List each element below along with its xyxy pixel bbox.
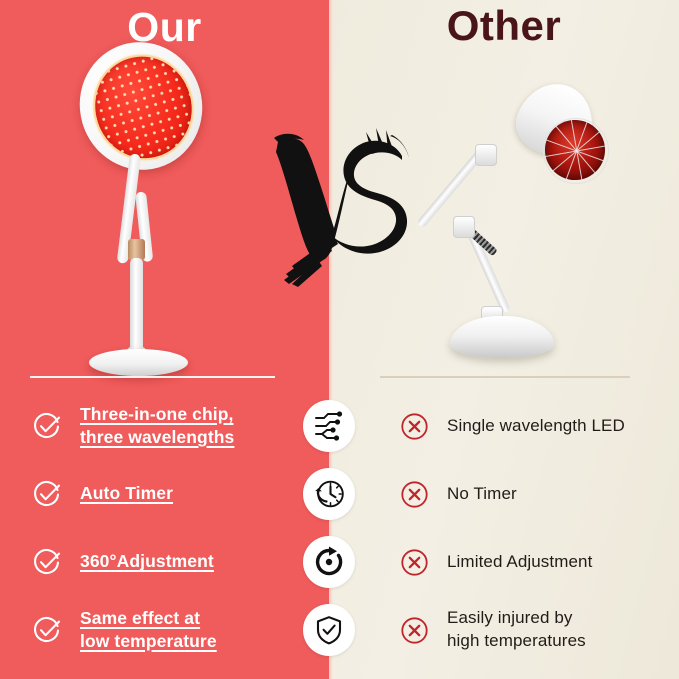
shield-check-icon — [303, 604, 355, 656]
our-feature-cell: Same effect at low temperature — [32, 596, 302, 664]
x-circle-icon — [400, 616, 429, 645]
comparison-row: Same effect at low temperature — [0, 596, 679, 664]
our-feature-line2: low temperature — [80, 631, 217, 651]
other-feature-cell: No Timer — [400, 460, 670, 528]
other-feature-line1: Easily injured by — [447, 608, 572, 627]
our-feature-cell: Auto Timer — [32, 460, 302, 528]
our-feature-label: Same effect at low temperature — [80, 607, 217, 653]
clock-timer-icon — [303, 468, 355, 520]
our-feature-line1: 360°Adjustment — [80, 551, 214, 571]
our-feature-line1: Same effect at — [80, 608, 200, 628]
x-circle-icon — [400, 548, 429, 577]
our-feature-cell: 360°Adjustment — [32, 528, 302, 596]
check-circle-icon — [32, 547, 62, 577]
circuit-chip-icon — [303, 400, 355, 452]
our-feature-line2: three wavelengths — [80, 427, 234, 447]
versus-graphic — [262, 108, 422, 293]
feature-comparison-list: Three-in-one chip, three wavelengths — [0, 392, 679, 664]
other-feature-cell: Single wavelength LED — [400, 392, 670, 460]
other-feature-line1: Single wavelength LED — [447, 416, 625, 435]
other-feature-label: Limited Adjustment — [447, 551, 592, 574]
our-feature-line1: Auto Timer — [80, 483, 173, 503]
other-feature-label: Easily injured by high temperatures — [447, 607, 586, 653]
led-lamp-base — [89, 349, 188, 376]
rotate-360-icon — [303, 536, 355, 588]
infrared-lamp-joint-top — [475, 144, 497, 166]
led-lamp-post — [130, 258, 143, 357]
our-feature-label: Three-in-one chip, three wavelengths — [80, 403, 234, 449]
product-image-other-infrared-lamp — [425, 78, 615, 373]
led-panel-face — [81, 43, 206, 172]
led-lamp-copper-band — [128, 239, 145, 260]
check-circle-icon — [32, 615, 62, 645]
comparison-row: Three-in-one chip, three wavelengths — [0, 392, 679, 460]
other-feature-line1: No Timer — [447, 484, 517, 503]
check-circle-icon — [32, 411, 62, 441]
other-feature-line2: high temperatures — [447, 631, 586, 650]
comparison-row: 360°Adjustment Limited Adju — [0, 528, 679, 596]
right-section-divider — [380, 376, 630, 378]
x-circle-icon — [400, 412, 429, 441]
led-diode-array — [83, 45, 203, 170]
x-circle-icon — [400, 480, 429, 509]
other-feature-line1: Limited Adjustment — [447, 552, 592, 571]
check-circle-icon — [32, 479, 62, 509]
comparison-row: Auto Timer — [0, 460, 679, 528]
our-feature-cell: Three-in-one chip, three wavelengths — [32, 392, 302, 460]
our-feature-label: 360°Adjustment — [80, 550, 214, 573]
other-feature-label: Single wavelength LED — [447, 415, 625, 438]
our-feature-label: Auto Timer — [80, 482, 173, 505]
infrared-lamp-joint-mid — [453, 216, 475, 238]
right-column-title: Other — [329, 2, 679, 50]
comparison-infographic: Our Other — [0, 0, 679, 679]
led-lamp-head — [65, 28, 218, 185]
left-section-divider — [30, 376, 275, 378]
infrared-lamp-base — [450, 316, 554, 358]
our-feature-line1: Three-in-one chip, — [80, 404, 233, 424]
other-feature-cell: Easily injured by high temperatures — [400, 596, 670, 664]
other-feature-cell: Limited Adjustment — [400, 528, 670, 596]
product-image-our-led-lamp — [72, 42, 212, 372]
other-feature-label: No Timer — [447, 483, 517, 506]
